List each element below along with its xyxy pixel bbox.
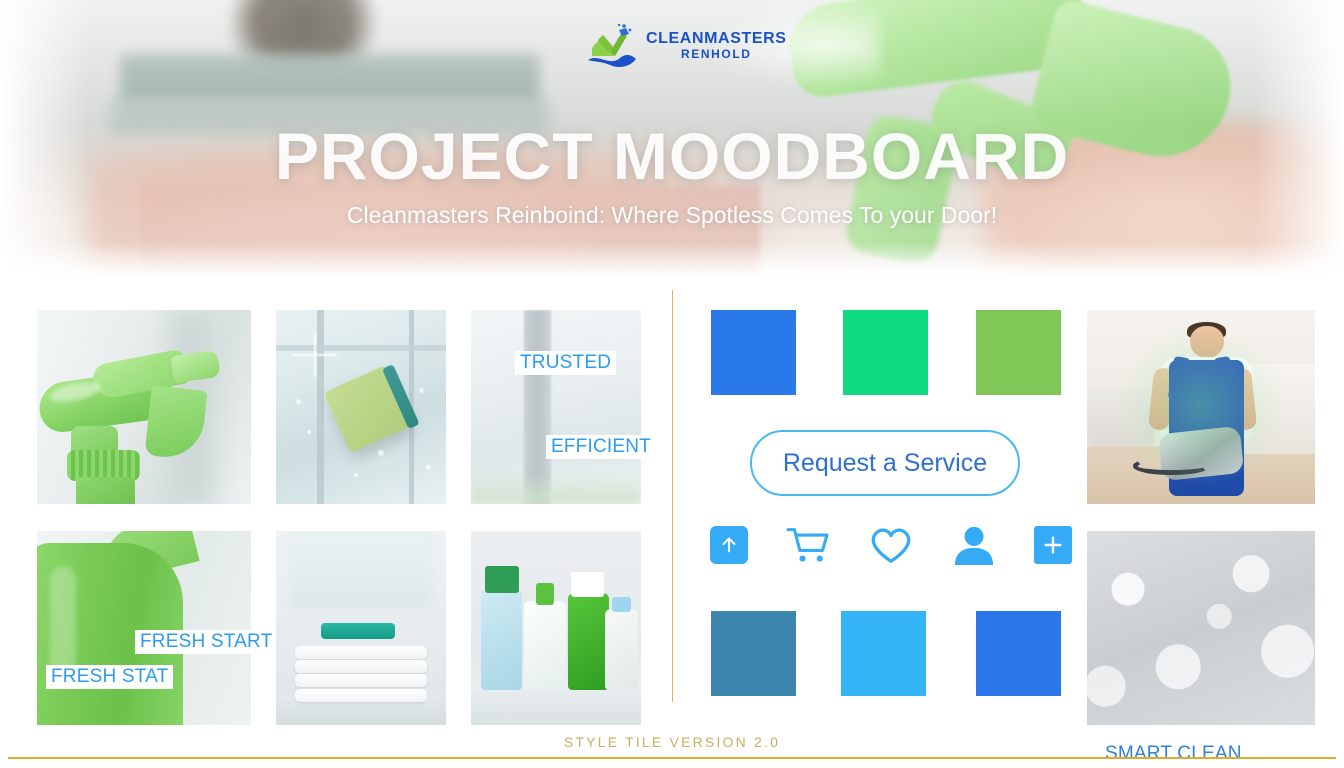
request-service-label: Request a Service	[783, 449, 987, 478]
moodboard-page: CLEANMASTERS RENHOLD PROJECT MOODBOARD C…	[0, 0, 1344, 768]
tile-green-bottle-closeup	[37, 531, 251, 725]
request-service-button[interactable]: Request a Service	[750, 430, 1020, 496]
heart-icon[interactable]	[868, 525, 914, 565]
style-tile-version-label: STYLE TILE VERSION 2.0	[0, 734, 1344, 750]
keyword-efficient: EFFICIENT	[546, 435, 656, 459]
icon-row	[710, 525, 1072, 565]
shopping-cart-icon[interactable]	[786, 526, 830, 564]
moodboard-content: TRUSTED EFFICIENT FRESH START FRESH STAT…	[0, 276, 1344, 734]
plus-add-icon[interactable]	[1034, 526, 1072, 564]
swatch-steel-teal	[711, 611, 796, 696]
brand-logo: CLEANMASTERS RENHOLD	[586, 22, 787, 70]
footer: STYLE TILE VERSION 2.0	[0, 734, 1344, 768]
tile-soapy-bubbles	[1087, 531, 1315, 725]
vertical-divider	[672, 290, 673, 702]
tile-sponge-on-window	[276, 310, 446, 504]
tile-cleaning-products	[471, 531, 641, 725]
tile-cleaning-worker	[1087, 310, 1315, 504]
tile-green-spray-trigger	[37, 310, 251, 504]
hero-fade-bottom	[0, 242, 1344, 276]
swatch-royal-blue	[976, 611, 1061, 696]
swatch-primary-blue	[711, 310, 796, 395]
user-person-icon[interactable]	[952, 525, 996, 565]
swatch-leaf-green	[976, 310, 1061, 395]
swatch-emerald-green	[843, 310, 928, 395]
tile-folded-towels	[276, 531, 446, 725]
hero-banner: CLEANMASTERS RENHOLD PROJECT MOODBOARD C…	[0, 0, 1344, 276]
logo-title: CLEANMASTERS	[646, 31, 787, 48]
swatch-sky-blue	[841, 611, 926, 696]
keyword-fresh-start: FRESH START	[135, 630, 277, 654]
logo-subtitle: RENHOLD	[646, 48, 787, 61]
page-title: PROJECT MOODBOARD	[0, 118, 1344, 194]
house-brush-wave-logo-icon	[586, 22, 638, 70]
keyword-trusted: TRUSTED	[515, 351, 616, 375]
upload-arrow-icon[interactable]	[710, 526, 748, 564]
page-subtitle: Cleanmasters Reinboind: Where Spotless C…	[0, 202, 1344, 229]
tile-trusted-efficient	[471, 310, 641, 504]
keyword-fresh-stat: FRESH STAT	[46, 665, 173, 689]
footer-rule	[8, 757, 1336, 759]
